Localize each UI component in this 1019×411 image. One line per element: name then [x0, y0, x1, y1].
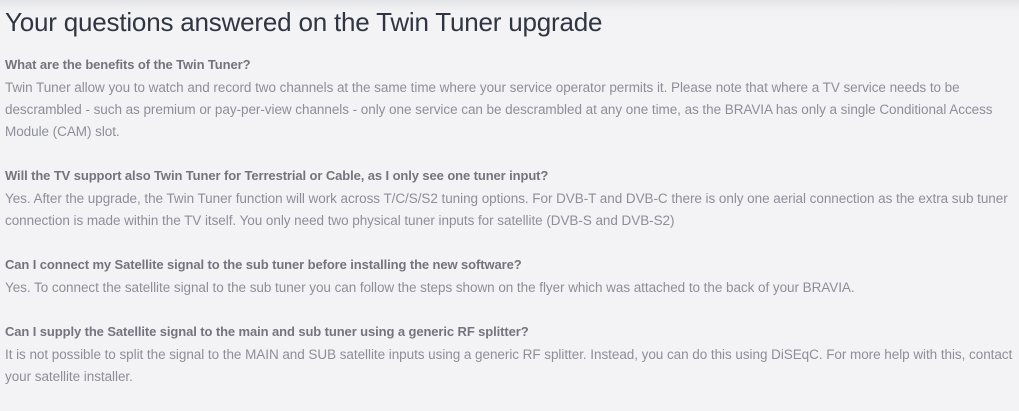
faq-question-rf-splitter: Can I supply the Satellite signal to the…	[5, 322, 1013, 341]
page-title: Your questions answered on the Twin Tune…	[5, 0, 1013, 39]
faq-answer-benefits: Twin Tuner allow you to watch and record…	[5, 77, 1013, 143]
faq-list: What are the benefits of the Twin Tuner?…	[5, 55, 1013, 411]
faq-page-content: Your questions answered on the Twin Tune…	[0, 0, 1019, 411]
faq-answer-rf-splitter: It is not possible to split the signal t…	[5, 344, 1013, 388]
faq-page: Your questions answered on the Twin Tune…	[0, 0, 1019, 411]
faq-item: Will the TV support also Twin Tuner for …	[5, 166, 1013, 232]
faq-question-connect-satellite-before-software: Can I connect my Satellite signal to the…	[5, 255, 1013, 274]
faq-item: Can I connect my Satellite signal to the…	[5, 255, 1013, 299]
faq-item: What are the benefits of the Twin Tuner?…	[5, 55, 1013, 143]
faq-item: Can I supply the Satellite signal to the…	[5, 322, 1013, 388]
faq-question-terrestrial-cable-support: Will the TV support also Twin Tuner for …	[5, 166, 1013, 185]
faq-answer-connect-satellite-before-software: Yes. To connect the satellite signal to …	[5, 277, 1013, 299]
faq-answer-terrestrial-cable-support: Yes. After the upgrade, the Twin Tuner f…	[5, 188, 1013, 232]
faq-question-benefits: What are the benefits of the Twin Tuner?	[5, 55, 1013, 74]
